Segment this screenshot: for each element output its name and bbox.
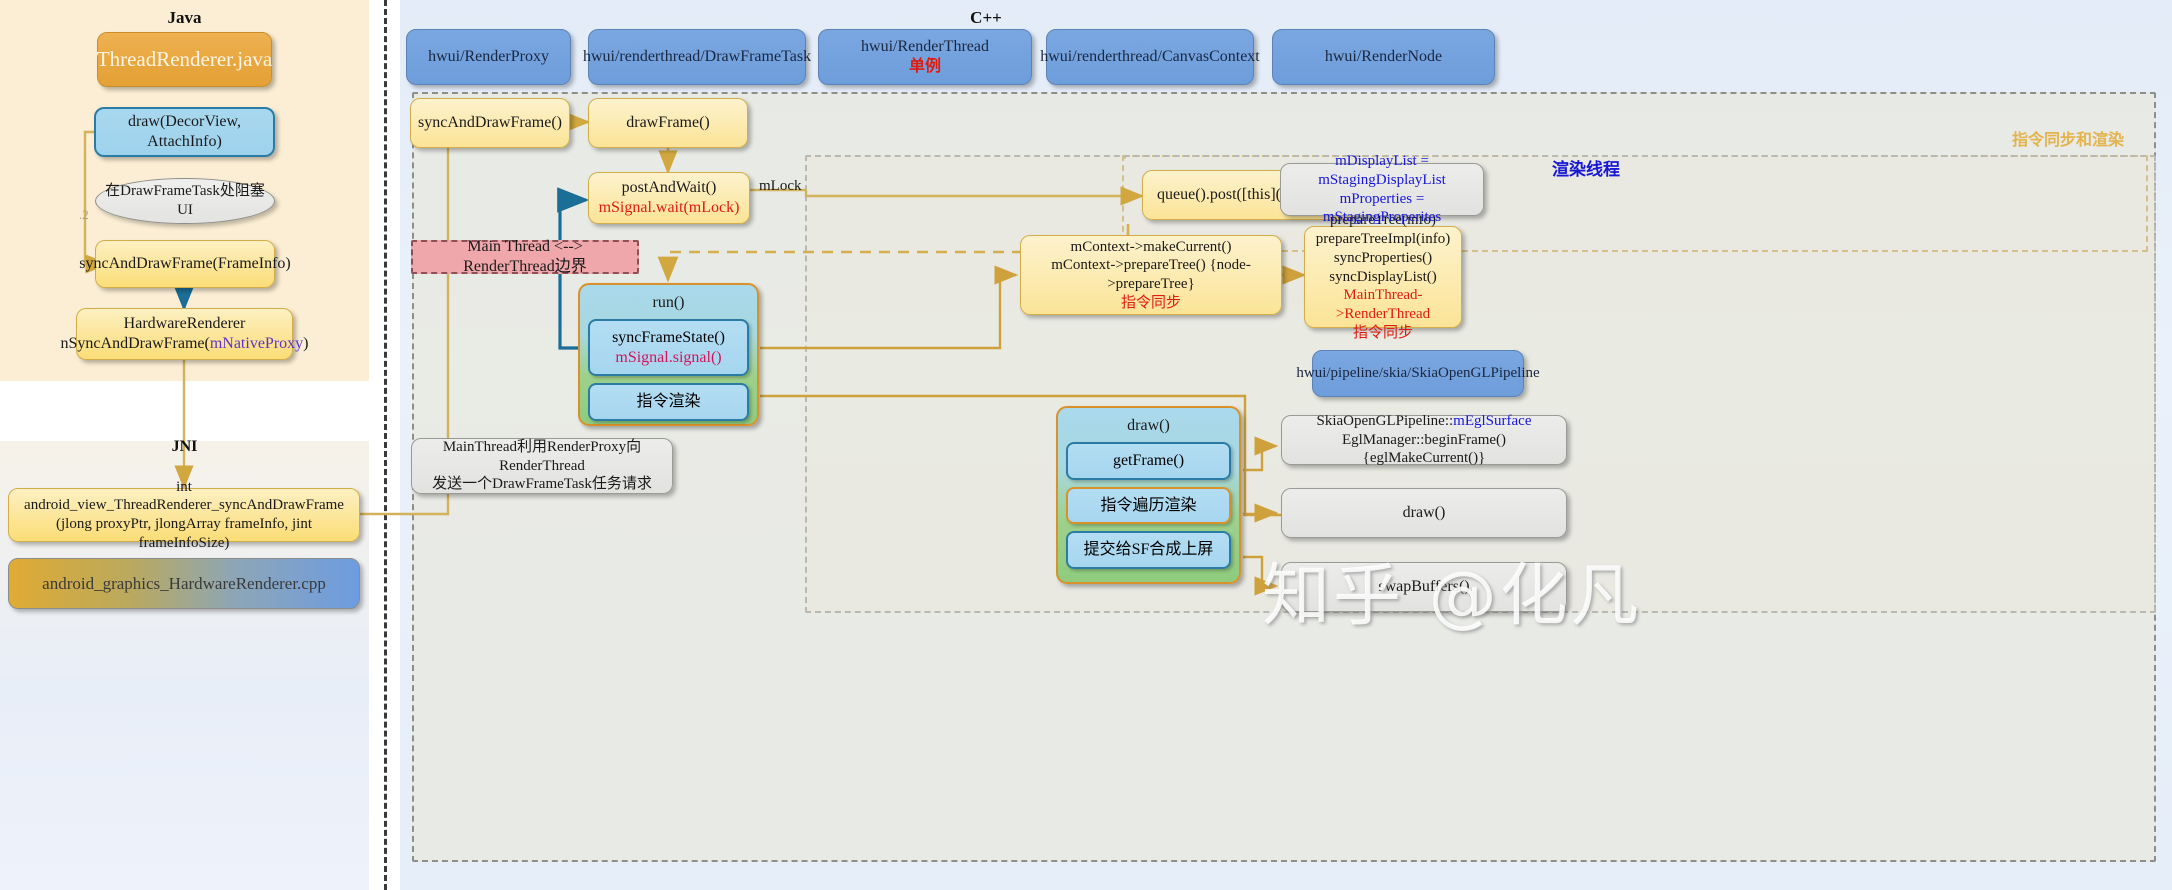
mlock-label: mLock [759, 178, 802, 195]
diagram-canvas: 指令同步和渲染 渲染线程 [0, 0, 2172, 890]
instruction-sync-region-label: 指令同步和渲染 [2012, 126, 2124, 150]
make-current-line1: mContext->makeCurrent() [1071, 239, 1232, 255]
cpp-header-render-thread-label: hwui/RenderThread [861, 38, 989, 55]
cpp-header-draw-frame-task[interactable]: hwui/renderthread/DrawFrameTask [588, 29, 806, 85]
draw-group-item-get-frame[interactable]: getFrame() [1066, 442, 1231, 480]
cpp-header-canvas-context[interactable]: hwui/renderthread/CanvasContext [1046, 29, 1254, 85]
explain-line2: 发送一个DrawFrameTask任务请求 [432, 476, 652, 492]
sync-frame-state-line1: syncFrameState() [612, 329, 725, 346]
run-group-title: run() [580, 285, 757, 319]
java-class-box[interactable]: ThreadRenderer.java [97, 32, 272, 87]
prepare-tree-line6: 指令同步 [1353, 325, 1413, 341]
jni-label: JNI [0, 438, 369, 456]
make-current-line3: 指令同步 [1121, 295, 1181, 311]
jni-fn-line1: int android_view_ThreadRenderer_syncAndD… [24, 479, 344, 514]
render-thread-region-label: 渲染线程 [1552, 155, 1620, 180]
draw-group[interactable]: draw() getFrame() 指令遍历渲染 提交给SF合成上屏 [1056, 406, 1241, 584]
hw-renderer-line1: HardwareRenderer [124, 315, 246, 332]
staging-display-list-node: mDisplayList = mStagingDisplayList mProp… [1280, 163, 1484, 216]
cpp-header-render-thread-sub: 单例 [909, 58, 941, 75]
instruction-render-label: 指令渲染 [636, 393, 700, 410]
run-group[interactable]: run() syncFrameState() mSignal.signal() … [578, 283, 759, 426]
jni-cpp-file-box[interactable]: android_graphics_HardwareRenderer.cpp [8, 558, 360, 609]
watermark: 知乎 @化凡 [1262, 540, 1642, 639]
jni-fn-line2: (jlong proxyPtr, jlongArray frameInfo, j… [56, 516, 312, 551]
jni-native-function-box[interactable]: int android_view_ThreadRenderer_syncAndD… [8, 488, 360, 542]
post-and-wait-line1: postAndWait() [622, 179, 717, 196]
explain-line1: MainThread利用RenderProxy向RenderThread [443, 439, 641, 474]
post-and-wait-signal-wait: mSignal.wait(mLock) [599, 199, 740, 216]
thread-boundary-note: Main Thread <--> RenderThread边界 [411, 240, 639, 274]
prepare-tree-line3: syncProperties() [1334, 250, 1432, 266]
cpp-header-render-proxy[interactable]: hwui/RenderProxy [406, 29, 571, 85]
run-group-item-sync-frame-state[interactable]: syncFrameState() mSignal.signal() [588, 319, 749, 376]
cpp-header-render-node[interactable]: hwui/RenderNode [1272, 29, 1495, 85]
make-current-node[interactable]: mContext->makeCurrent() mContext->prepar… [1020, 235, 1282, 315]
draw-group-title: draw() [1058, 408, 1239, 442]
prepare-tree-line5: MainThread->RenderThread [1336, 287, 1430, 322]
cpp-header-render-thread[interactable]: hwui/RenderThread 单例 [818, 29, 1032, 85]
egl-line2: EglManager::beginFrame() {eglMakeCurrent… [1342, 432, 1506, 467]
java-cpp-divider [384, 0, 387, 890]
draw-group-item-traverse-render[interactable]: 指令遍历渲染 [1066, 487, 1231, 525]
hw-renderer-native-proxy: mNativeProxy [210, 335, 303, 352]
main-thread-explain-note: MainThread利用RenderProxy向RenderThread 发送一… [411, 438, 673, 494]
java-section-title: Java [0, 8, 369, 28]
run-group-item-instruction-render[interactable]: 指令渲染 [588, 383, 749, 421]
draw-group-item-submit-sf[interactable]: 提交给SF合成上屏 [1066, 531, 1231, 569]
prepare-tree-line2: prepareTreeImpl(info) [1316, 231, 1450, 247]
java-hardware-renderer-box[interactable]: HardwareRenderer nSyncAndDrawFrame(mNati… [76, 308, 293, 360]
traverse-render-label: 指令遍历渲染 [1100, 497, 1196, 514]
get-frame-label: getFrame() [1113, 452, 1184, 469]
egl-surface-ref: mEglSurface [1453, 413, 1531, 429]
make-current-line2: mContext->prepareTree() {node->prepareTr… [1051, 257, 1251, 292]
hw-renderer-line2-pre: nSyncAndDrawFrame( [61, 335, 210, 352]
draw-frame-node[interactable]: drawFrame() [588, 98, 748, 148]
hw-renderer-line2-post: ) [303, 335, 308, 352]
prepare-tree-node[interactable]: prepareTree(info) prepareTreeImpl(info) … [1304, 226, 1462, 328]
staging-line1: mDisplayList = mStagingDisplayList [1318, 153, 1446, 188]
sync-and-draw-frame-node[interactable]: syncAndDrawFrame() [410, 98, 570, 148]
java-sync-and-draw-frame-box[interactable]: syncAndDrawFrame(FrameInfo) [95, 240, 275, 288]
staging-line2: mProperties = mStagingProperites [1323, 191, 1441, 226]
submit-sf-label: 提交给SF合成上屏 [1084, 541, 1214, 558]
java-ellipse-index: .2 [79, 207, 89, 223]
skia-pipeline-header-box[interactable]: hwui/pipeline/skia/SkiaOpenGLPipeline [1312, 350, 1524, 397]
right-stack-draw-node[interactable]: draw() [1281, 488, 1567, 538]
egl-line1-pre: SkiaOpenGLPipeline:: [1317, 413, 1454, 429]
sync-frame-state-signal: mSignal.signal() [615, 349, 721, 366]
java-draw-box[interactable]: draw(DecorView, AttachInfo) [94, 107, 275, 157]
prepare-tree-line4: syncDisplayList() [1329, 269, 1436, 285]
cpp-section-title: C++ [400, 8, 1572, 28]
java-block-ui-ellipse: 在DrawFrameTask处阻塞UI [95, 178, 275, 224]
egl-manager-node: SkiaOpenGLPipeline::mEglSurface EglManag… [1281, 415, 1567, 465]
post-and-wait-node[interactable]: postAndWait() mSignal.wait(mLock) [588, 172, 750, 224]
